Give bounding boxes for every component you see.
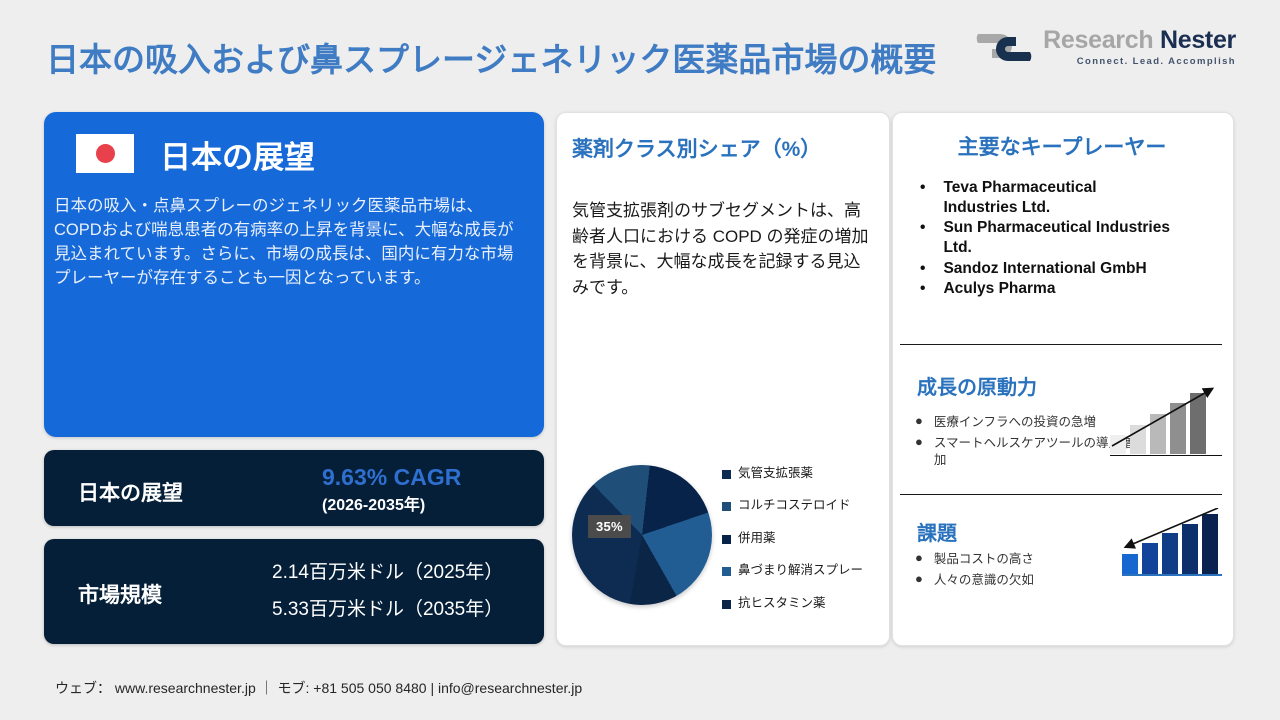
legend-label: 気管支拡張薬: [738, 466, 813, 480]
growth-drivers-title: 成長の原動力: [917, 371, 1037, 400]
challenge-item: ●製品コストの高さ: [915, 551, 1140, 567]
pie-legend: 気管支拡張薬コルチコステロイド併用薬鼻づまり解消スプレー抗ヒスタミン薬: [722, 466, 882, 628]
challenge-item-label: 製品コストの高さ: [934, 551, 1034, 567]
market-size-base-value: 2.14百万米ドル（2025年）: [272, 557, 503, 584]
cagr-value: 9.63% CAGR: [322, 464, 461, 491]
legend-item: 抗ヒスタミン薬: [722, 596, 882, 610]
japan-outlook-title: 日本の展望: [160, 132, 315, 177]
drug-class-share-title: 薬剤クラス別シェア（%）: [572, 133, 882, 163]
legend-label: 鼻づまり解消スプレー: [738, 563, 863, 577]
page-title: 日本の吸入および鼻スプレージェネリック医薬品市場の概要: [46, 33, 936, 81]
bullet-icon: ●: [915, 551, 923, 567]
key-players-list: •Teva Pharmaceutical Industries Ltd.•Sun…: [920, 178, 1170, 300]
challenges-title: 課題: [917, 517, 957, 546]
drug-class-share-body: 気管支拡張剤のサブセグメントは、高齢者人口における COPD の発症の増加を背景…: [572, 198, 872, 300]
legend-swatch-icon: [722, 470, 731, 479]
bullet-icon: •: [920, 218, 925, 257]
legend-item: 気管支拡張薬: [722, 466, 882, 480]
japan-flag-icon: [76, 134, 134, 173]
bullet-icon: •: [920, 259, 925, 279]
cagr-box-label: 日本の展望: [78, 477, 183, 507]
challenges-list: ●製品コストの高さ●人々の意識の欠如: [915, 551, 1140, 594]
bullet-icon: ●: [915, 572, 923, 588]
key-player-item: •Sandoz International GmbH: [920, 259, 1170, 279]
section-divider-1: [900, 344, 1222, 345]
logo-word-research: Research: [1043, 26, 1153, 54]
key-player-label: Teva Pharmaceutical Industries Ltd.: [943, 178, 1170, 217]
bullet-icon: ●: [915, 414, 923, 430]
rn-linked-squares-logo-icon: [974, 26, 1034, 69]
brand-logo: Research Nester Connect. Lead. Accomplis…: [974, 26, 1236, 69]
ascending-bar-chart-icon: [1110, 380, 1222, 458]
challenge-item: ●人々の意識の欠如: [915, 572, 1140, 588]
market-size-forecast-value: 5.33百万米ドル（2035年）: [272, 594, 503, 621]
growth-driver-item-label: 医療インフラへの投資の急増: [934, 414, 1096, 430]
growth-drivers-list: ●医療インフラへの投資の急増●スマートヘルスケアツールの導入増加: [915, 414, 1140, 473]
growth-driver-item: ●スマートヘルスケアツールの導入増加: [915, 435, 1140, 468]
logo-wordmark: Research Nester Connect. Lead. Accomplis…: [1043, 28, 1236, 67]
key-player-item: •Teva Pharmaceutical Industries Ltd.: [920, 178, 1170, 217]
bullet-icon: •: [920, 279, 925, 299]
key-player-label: Sandoz International GmbH: [943, 259, 1146, 279]
logo-tagline: Connect. Lead. Accomplish: [1043, 57, 1236, 67]
legend-swatch-icon: [722, 567, 731, 576]
infographic-page: 日本の吸入および鼻スプレージェネリック医薬品市場の概要 Research Nes…: [0, 0, 1280, 720]
legend-item: 併用薬: [722, 531, 882, 545]
market-size-label: 市場規模: [78, 579, 162, 609]
pie-highlight-label: 35%: [588, 515, 631, 538]
key-player-item: •Aculys Pharma: [920, 279, 1170, 299]
legend-item: コルチコステロイド: [722, 498, 882, 512]
chart-axis: [1122, 574, 1222, 576]
japan-outlook-body: 日本の吸入・点鼻スプレーのジェネリック医薬品市場は、COPDおよび喘息患者の有病…: [54, 195, 529, 291]
japan-flag-sun: [96, 144, 115, 163]
logo-word-nester: Nester: [1160, 26, 1236, 54]
key-players-title: 主要なキープレーヤー: [892, 131, 1232, 161]
header: 日本の吸入および鼻スプレージェネリック医薬品市場の概要 Research Nes…: [0, 0, 1280, 100]
legend-swatch-icon: [722, 502, 731, 511]
legend-label: 併用薬: [738, 531, 776, 545]
key-player-label: Sun Pharmaceutical Industries Ltd.: [943, 218, 1170, 257]
challenge-item-label: 人々の意識の欠如: [934, 572, 1034, 588]
legend-item: 鼻づまり解消スプレー: [722, 563, 882, 577]
legend-swatch-icon: [722, 535, 731, 544]
bullet-icon: ●: [915, 435, 923, 468]
legend-label: コルチコステロイド: [738, 498, 851, 512]
key-player-item: •Sun Pharmaceutical Industries Ltd.: [920, 218, 1170, 257]
chart-axis: [1110, 455, 1222, 457]
drug-class-pie-chart: 35%: [572, 465, 714, 615]
legend-swatch-icon: [722, 600, 731, 609]
section-divider-2: [900, 494, 1222, 495]
key-player-label: Aculys Pharma: [943, 279, 1055, 299]
ascending-bar-chart-blue-icon: [1122, 508, 1222, 578]
cagr-period: (2026-2035年): [322, 491, 425, 515]
footer-contact: ウェブ： www.researchnester.jp ｜ モブ: +81 505…: [55, 678, 582, 698]
bullet-icon: •: [920, 178, 925, 217]
legend-label: 抗ヒスタミン薬: [738, 596, 826, 610]
growth-driver-item: ●医療インフラへの投資の急増: [915, 414, 1140, 430]
